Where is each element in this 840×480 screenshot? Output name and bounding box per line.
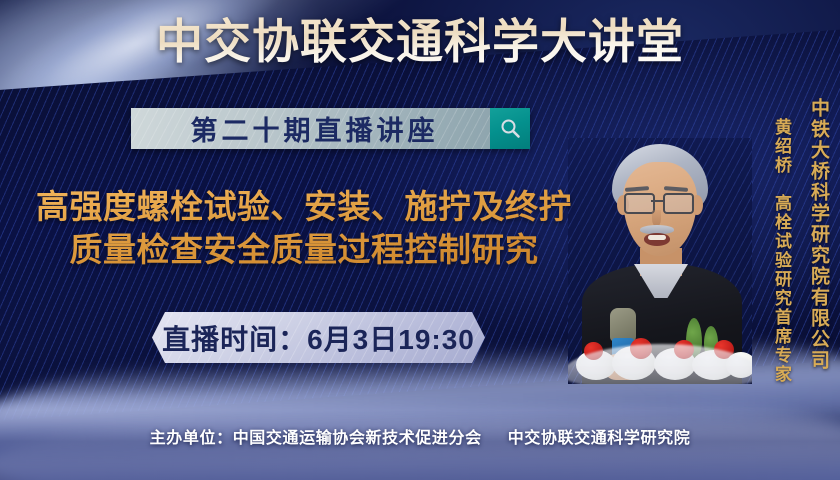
organizer-name-1: 中国交通运输协会新技术促进分会 xyxy=(233,430,482,447)
search-button[interactable] xyxy=(490,108,530,149)
lecture-topic-title: 高强度螺栓试验、安装、施拧及终拧 质量检查安全质量过程控制研究 xyxy=(6,186,602,272)
live-lecture-poster: 中交协联交通科学大讲堂 第二十期直播讲座 高强度螺栓试验、安装、施拧及终拧 质量… xyxy=(0,0,840,480)
episode-label: 第二十期直播讲座 xyxy=(183,109,439,148)
search-icon xyxy=(498,117,522,141)
live-time-badge: 直播时间：6月3日19:30 xyxy=(152,312,485,363)
organizer-footer: 主办单位：中国交通运输协会新技术促进分会中交协联交通科学研究院 xyxy=(0,424,840,448)
speaker-glasses-left-lens xyxy=(624,193,655,214)
speaker-organization: 中铁大桥科学研究院有限公司 xyxy=(805,98,832,371)
organizer-prefix: 主办单位： xyxy=(150,430,233,447)
live-time-text: 直播时间：6月3日19:30 xyxy=(162,318,475,358)
lecture-topic-line-2: 质量检查安全质量过程控制研究 xyxy=(6,229,602,272)
speaker-name-and-role: 黄绍桥 高栓试验研究首席专家 xyxy=(769,118,794,384)
speaker-glasses-bridge xyxy=(651,200,663,202)
organizer-name-2: 中交协联交通科学研究院 xyxy=(508,430,691,447)
lecture-topic-line-1: 高强度螺栓试验、安装、施拧及终拧 xyxy=(36,188,572,225)
page-title: 中交协联交通科学大讲堂 xyxy=(0,17,840,68)
speaker-glasses-right-lens xyxy=(663,193,694,214)
episode-search-bar[interactable]: 第二十期直播讲座 xyxy=(131,108,530,149)
speaker-mouth xyxy=(644,233,670,246)
search-input[interactable]: 第二十期直播讲座 xyxy=(131,108,490,149)
